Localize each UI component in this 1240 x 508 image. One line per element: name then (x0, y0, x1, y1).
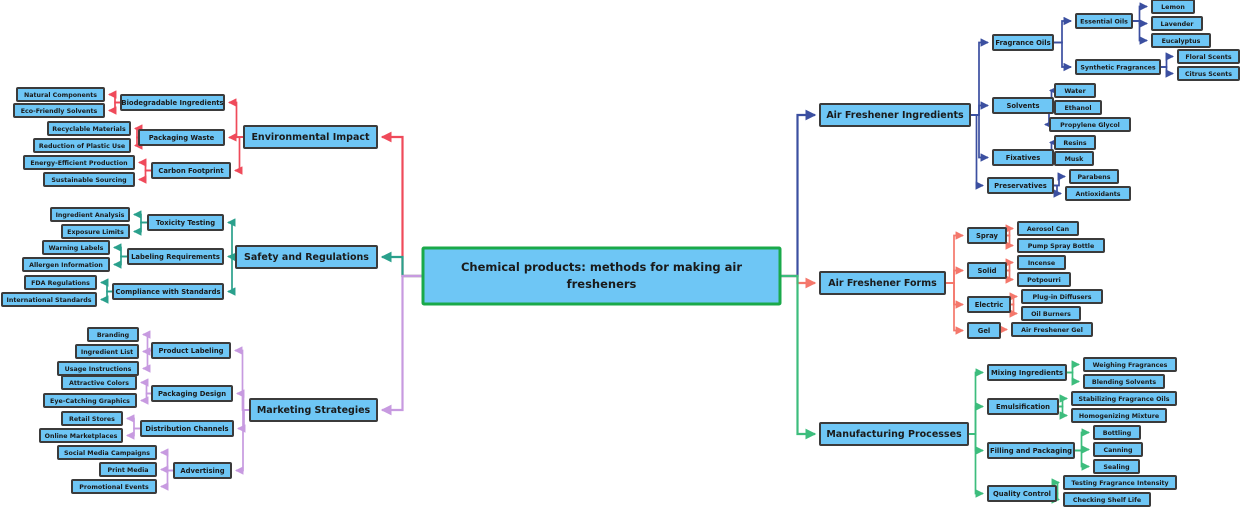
node-aerosol-can[interactable]: Aerosol Can (1018, 222, 1078, 235)
connector (101, 292, 113, 300)
connector (945, 271, 963, 284)
node-label: Ingredient List (81, 349, 133, 356)
node-label: Packaging Waste (149, 134, 215, 142)
connector (114, 257, 128, 265)
node-label: Water (1064, 88, 1086, 95)
node-water[interactable]: Water (1055, 84, 1095, 97)
connector (1006, 229, 1013, 236)
node-antioxidants[interactable]: Antioxidants (1066, 187, 1130, 200)
node-label: Pump Spray Bottle (1028, 243, 1094, 250)
node-allergen-information[interactable]: Allergen Information (23, 258, 109, 271)
node-stabilizing-fragrance-oils[interactable]: Stabilizing Fragrance Oils (1072, 392, 1176, 405)
node-social-media-campaigns[interactable]: Social Media Campaigns (58, 446, 156, 459)
node-energy-efficient-production[interactable]: Energy-Efficient Production (24, 156, 134, 169)
node-testing-fragrance-intensity[interactable]: Testing Fragrance Intensity (1064, 476, 1176, 489)
node-label: Distribution Channels (145, 425, 228, 433)
node-label: Filling and Packaging (990, 447, 1072, 455)
node-label: Retail Stores (69, 416, 115, 423)
node-canning[interactable]: Canning (1094, 443, 1142, 456)
connector (139, 163, 152, 171)
node-label: Fixatives (1006, 154, 1041, 162)
connector (143, 335, 152, 351)
connector (143, 351, 152, 369)
connector (970, 43, 988, 116)
node-label: Resins (1063, 140, 1087, 147)
node-label: Allergen Information (29, 262, 103, 269)
node-label: Lavender (1160, 21, 1194, 28)
node-print-media[interactable]: Print Media (100, 463, 156, 476)
node-toxicity-testing[interactable]: Toxicity Testing (148, 215, 223, 230)
connector (970, 115, 983, 186)
connector (968, 434, 983, 494)
connector (945, 283, 963, 331)
connector (139, 171, 152, 180)
node-warning-labels[interactable]: Warning Labels (43, 241, 109, 254)
node-label: Sealing (1103, 464, 1129, 471)
node-parabens[interactable]: Parabens (1070, 170, 1118, 183)
node-ingredient-list[interactable]: Ingredient List (76, 345, 138, 358)
connector (780, 115, 815, 276)
connector (1132, 7, 1147, 22)
node-label: Marketing Strategies (257, 405, 371, 416)
connector (1074, 451, 1089, 467)
node-lemon[interactable]: Lemon (1152, 0, 1194, 13)
node-electric[interactable]: Electric (968, 297, 1010, 312)
node-label: Carbon Footprint (158, 167, 224, 175)
node-label: Emulsification (996, 403, 1050, 411)
node-usage-instructions[interactable]: Usage Instructions (58, 362, 138, 375)
node-label: Attractive Colors (69, 380, 129, 387)
node-manufacturing-processes[interactable]: Manufacturing Processes (820, 423, 968, 445)
node-label: Blending Solvents (1092, 379, 1156, 386)
node-preservatives[interactable]: Preservatives (988, 178, 1053, 193)
connector (1066, 365, 1079, 373)
connector (1010, 297, 1017, 305)
node-label: Solvents (1006, 102, 1039, 110)
connector (109, 103, 121, 111)
connector (235, 351, 250, 411)
node-label: Product Labeling (158, 347, 223, 355)
node-label: Weighing Fragrances (1093, 362, 1168, 369)
node-label: Homogenizing Mixture (1079, 413, 1159, 420)
node-sealing[interactable]: Sealing (1094, 460, 1139, 473)
node-label: Labeling Requirements (131, 253, 220, 261)
node-fda-regulations[interactable]: FDA Regulations (25, 276, 96, 289)
node-label: Usage Instructions (65, 366, 132, 373)
connector (1053, 21, 1071, 43)
node-fragrance-oils[interactable]: Fragrance Oils (993, 35, 1053, 50)
node-propylene-glycol[interactable]: Propylene Glycol (1050, 118, 1130, 131)
node-eco-friendly-solvents[interactable]: Eco-Friendly Solvents (14, 104, 104, 117)
node-eye-catching-graphics[interactable]: Eye-Catching Graphics (44, 394, 136, 407)
node-pump-spray-bottle[interactable]: Pump Spray Bottle (1018, 239, 1104, 252)
node-label: Floral Scents (1185, 54, 1232, 61)
node-essential-oils[interactable]: Essential Oils (1076, 14, 1132, 28)
node-fixatives[interactable]: Fixatives (993, 150, 1053, 165)
node-packaging-waste[interactable]: Packaging Waste (139, 130, 224, 145)
node-compliance-with-standards[interactable]: Compliance with Standards (113, 284, 223, 299)
node-label: Reduction of Plastic Use (39, 143, 125, 150)
connector (237, 394, 250, 411)
node-eucalyptus[interactable]: Eucalyptus (1152, 34, 1210, 47)
node-resins[interactable]: Resins (1055, 136, 1095, 149)
node-distribution-channels[interactable]: Distribution Channels (141, 421, 233, 436)
node-label: Environmental Impact (251, 132, 370, 143)
node-solvents[interactable]: Solvents (993, 98, 1053, 113)
node-label: Musk (1065, 156, 1084, 163)
connector (1053, 43, 1071, 68)
node-label: Mixing Ingredients (991, 369, 1063, 377)
node-label: Lemon (1161, 4, 1185, 11)
node-label: Toxicity Testing (156, 219, 215, 227)
connector (382, 276, 423, 410)
node-citrus-scents[interactable]: Citrus Scents (1178, 67, 1239, 80)
node-weighing-fragrances[interactable]: Weighing Fragrances (1084, 358, 1176, 371)
node-label: Synthetic Fragrances (1080, 65, 1156, 72)
connector (127, 429, 141, 436)
connector (1006, 236, 1013, 246)
node-label: Testing Fragrance Intensity (1071, 480, 1168, 487)
node-label: Air Freshener Forms (828, 278, 937, 289)
mindmap-canvas: Air Freshener IngredientsFragrance OilsE… (0, 0, 1240, 508)
node-label: Bottling (1103, 430, 1131, 437)
connector (970, 115, 988, 158)
node-label: Spray (976, 232, 998, 240)
connector (1006, 271, 1013, 280)
connector (1160, 57, 1173, 68)
node-sustainable-sourcing[interactable]: Sustainable Sourcing (44, 173, 134, 186)
node-label: Print Media (107, 467, 148, 474)
connector (1058, 399, 1067, 407)
connector (127, 419, 141, 429)
node-safety-and-regulations[interactable]: Safety and Regulations (236, 246, 377, 268)
node-label: Fragrance Oils (995, 39, 1050, 47)
node-label: Oil Burners (1031, 311, 1071, 318)
connector (114, 248, 128, 257)
node-air-freshener-ingredients[interactable]: Air Freshener Ingredients (820, 104, 970, 126)
node-lavender[interactable]: Lavender (1152, 17, 1202, 30)
node-label: Quality Control (993, 490, 1051, 498)
node-oil-burners[interactable]: Oil Burners (1022, 307, 1080, 320)
node-filling-and-packaging[interactable]: Filling and Packaging (988, 443, 1074, 458)
node-label: Ethanol (1064, 105, 1091, 112)
node-gel[interactable]: Gel (968, 323, 1000, 338)
connector (236, 410, 250, 471)
node-label: Warning Labels (49, 245, 104, 252)
node-label: Plug-in Diffusers (1032, 294, 1091, 301)
node-exposure-limits[interactable]: Exposure Limits (62, 225, 129, 238)
node-musk[interactable]: Musk (1055, 152, 1093, 165)
node-branding[interactable]: Branding (88, 328, 138, 341)
connector (1160, 67, 1173, 74)
connector (1000, 330, 1007, 331)
node-plug-in-diffusers[interactable]: Plug-in Diffusers (1022, 290, 1102, 303)
node-label: Online Marketplaces (45, 433, 118, 440)
node-label: Solid (977, 267, 996, 275)
node-label: Aerosol Can (1027, 226, 1069, 233)
node-label: FDA Regulations (31, 280, 90, 287)
connector (101, 283, 113, 292)
node-label: Biodegradable Ingredients (121, 99, 223, 107)
node-homogenizing-mixture[interactable]: Homogenizing Mixture (1072, 409, 1166, 422)
node-checking-shelf-life[interactable]: Checking Shelf Life (1064, 493, 1150, 506)
node-label: Eye-Catching Graphics (50, 398, 130, 405)
connector (134, 215, 148, 223)
node-label: Preservatives (994, 182, 1047, 190)
node-advertising[interactable]: Advertising (174, 463, 231, 478)
node-floral-scents[interactable]: Floral Scents (1178, 50, 1239, 63)
node-label: Air Freshener Gel (1021, 327, 1083, 334)
node-label: Safety and Regulations (244, 252, 369, 263)
connector (141, 383, 152, 394)
node-label: International Standards (7, 297, 92, 304)
node-natural-components[interactable]: Natural Components (17, 88, 104, 101)
node-air-freshener-gel[interactable]: Air Freshener Gel (1012, 323, 1092, 336)
node-label: Incense (1028, 260, 1055, 267)
node-label: Eco-Friendly Solvents (21, 108, 98, 115)
node-label: Gel (978, 327, 991, 335)
node-emulsification[interactable]: Emulsification (988, 399, 1058, 414)
connector (1053, 186, 1061, 194)
node-marketing-strategies[interactable]: Marketing Strategies (250, 399, 377, 421)
connector (134, 223, 148, 232)
node-label: Natural Components (24, 92, 97, 99)
node-labeling-requirements[interactable]: Labeling Requirements (128, 249, 223, 264)
connector (968, 407, 983, 435)
node-label: Exposure Limits (67, 229, 124, 236)
node-label: Propylene Glycol (1060, 122, 1120, 129)
node-label: Compliance with Standards (115, 288, 220, 296)
node-label: Recyclable Materials (52, 126, 126, 133)
connector (382, 137, 423, 276)
connector (780, 276, 815, 434)
node-label: Canning (1104, 447, 1133, 454)
node-recyclable-materials[interactable]: Recyclable Materials (48, 122, 130, 135)
node-label: Potpourri (1027, 277, 1061, 284)
node-environmental-impact[interactable]: Environmental Impact (244, 126, 377, 148)
node-online-marketplaces[interactable]: Online Marketplaces (40, 429, 122, 442)
connector (238, 410, 250, 429)
connector (161, 471, 174, 487)
node-label: Antioxidants (1075, 191, 1120, 198)
node-solid[interactable]: Solid (968, 263, 1006, 278)
node-retail-stores[interactable]: Retail Stores (62, 412, 122, 425)
node-chemical-products-methods-for-making-air-fresheners[interactable]: Chemical products: methods for making ai… (423, 248, 780, 304)
node-bottling[interactable]: Bottling (1094, 426, 1140, 439)
node-attractive-colors[interactable]: Attractive Colors (62, 376, 136, 389)
connector (229, 103, 244, 138)
connector (1010, 305, 1017, 314)
node-synthetic-fragrances[interactable]: Synthetic Fragrances (1076, 60, 1160, 74)
node-promotional-events[interactable]: Promotional Events (72, 480, 156, 493)
node-layer: Air Freshener IngredientsFragrance OilsE… (2, 0, 1239, 506)
node-label: Electric (975, 301, 1004, 309)
connector (228, 223, 236, 258)
node-label: Packaging Design (158, 390, 226, 398)
node-label: Stabilizing Fragrance Oils (1079, 396, 1170, 403)
node-ethanol[interactable]: Ethanol (1055, 101, 1101, 114)
node-label: Air Freshener Ingredients (826, 110, 964, 121)
node-label: Eucalyptus (1162, 38, 1201, 45)
connector (228, 257, 236, 292)
connector (109, 95, 121, 103)
connector (970, 106, 988, 116)
node-packaging-design[interactable]: Packaging Design (152, 386, 232, 401)
node-label: Sustainable Sourcing (51, 177, 126, 184)
node-label: Branding (97, 332, 129, 339)
node-label: Parabens (1077, 174, 1110, 181)
node-international-standards[interactable]: International Standards (2, 293, 96, 306)
node-label: Essential Oils (1080, 19, 1128, 26)
node-label: Promotional Events (79, 484, 149, 491)
connector (1053, 177, 1065, 186)
node-mixing-ingredients[interactable]: Mixing Ingredients (988, 365, 1066, 380)
node-blending-solvents[interactable]: Blending Solvents (1084, 375, 1164, 388)
connector (1006, 263, 1013, 271)
node-product-labeling[interactable]: Product Labeling (152, 343, 230, 358)
node-carbon-footprint[interactable]: Carbon Footprint (152, 163, 230, 178)
node-label: Manufacturing Processes (826, 429, 962, 440)
node-biodegradable-ingredients[interactable]: Biodegradable Ingredients (121, 95, 224, 110)
node-label: Citrus Scents (1185, 71, 1232, 78)
node-label: Energy-Efficient Production (30, 160, 127, 167)
connector (235, 137, 244, 171)
node-label: Ingredient Analysis (56, 212, 125, 219)
node-air-freshener-forms[interactable]: Air Freshener Forms (820, 272, 945, 294)
connector (1058, 407, 1067, 416)
node-quality-control[interactable]: Quality Control (988, 486, 1056, 501)
connector (1066, 373, 1079, 382)
node-incense[interactable]: Incense (1018, 256, 1065, 269)
connector (382, 257, 423, 276)
connector (161, 453, 174, 471)
connector (1074, 433, 1089, 451)
node-label: Checking Shelf Life (1073, 497, 1141, 504)
node-reduction-of-plastic-use[interactable]: Reduction of Plastic Use (34, 139, 130, 152)
node-ingredient-analysis[interactable]: Ingredient Analysis (51, 208, 129, 221)
node-potpourri[interactable]: Potpourri (1018, 273, 1070, 286)
connector (141, 394, 152, 401)
node-label: Social Media Campaigns (64, 450, 150, 457)
node-label: Advertising (180, 467, 224, 475)
node-spray[interactable]: Spray (968, 228, 1006, 243)
